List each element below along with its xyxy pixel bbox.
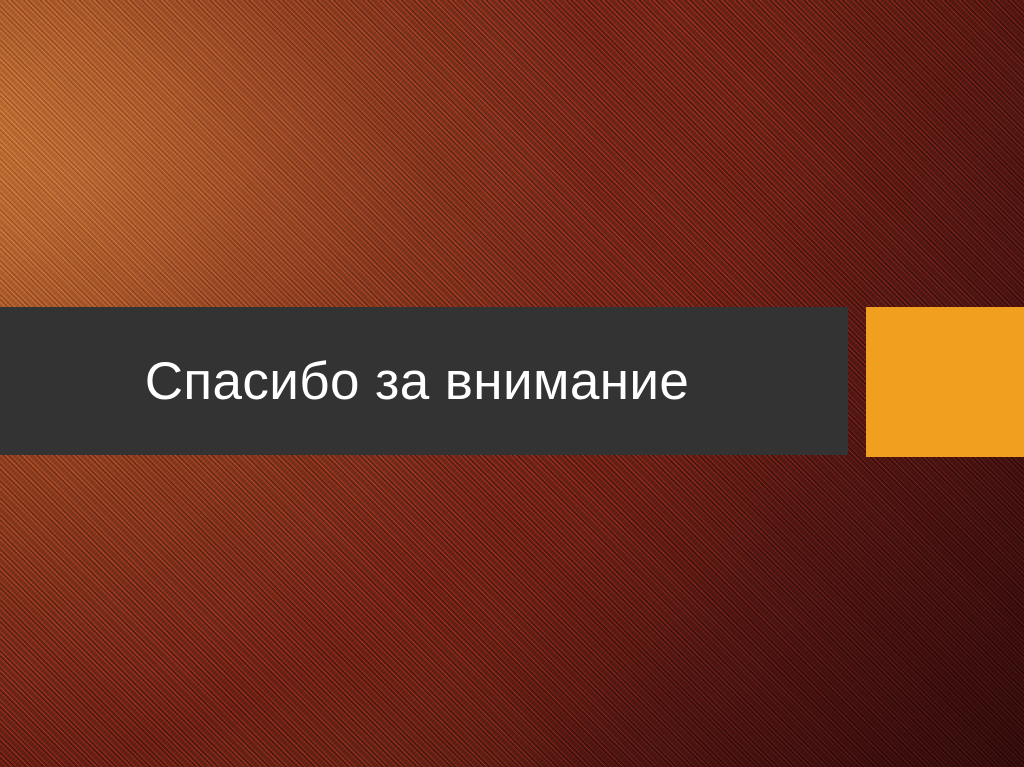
title-band: Спасибо за внимание (0, 307, 848, 455)
slide: Спасибо за внимание (0, 0, 1024, 767)
accent-block (866, 307, 1024, 457)
slide-title: Спасибо за внимание (145, 355, 704, 408)
